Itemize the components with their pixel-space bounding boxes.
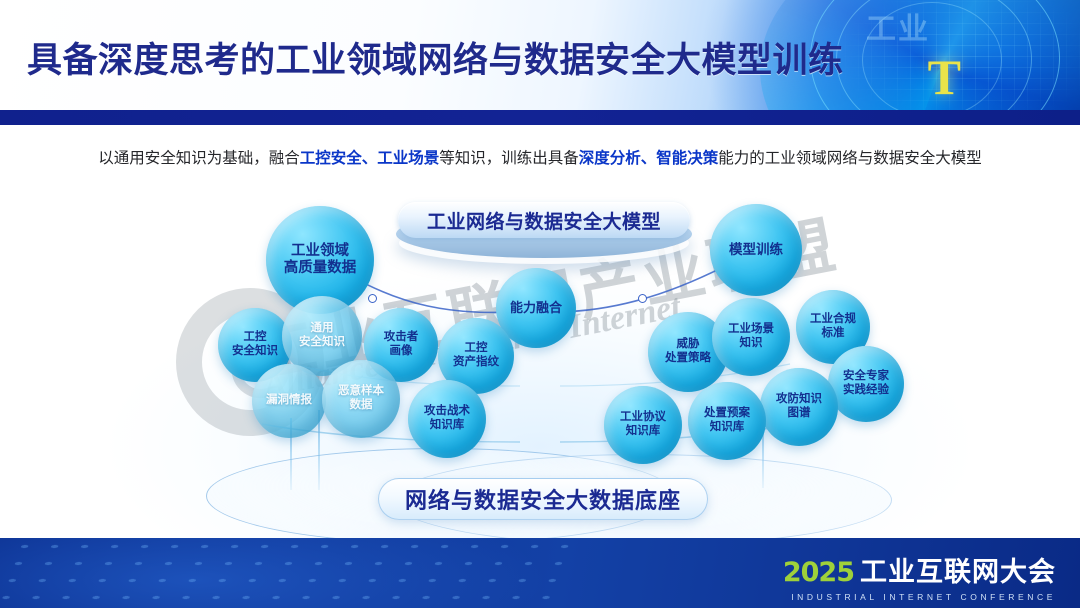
node-malware-sample-data[interactable]: 恶意样本 数据 [322, 360, 400, 438]
node-industrial-scenario-knowledge[interactable]: 工业场景 知识 [712, 298, 790, 376]
node-label-line1: 工业合规 [810, 313, 856, 327]
curve-junction-left [368, 294, 377, 303]
subtitle-part-3: 能力的工业领域网络与数据安全大模型 [718, 150, 982, 167]
node-security-expert-experience[interactable]: 安全专家 实践经验 [828, 346, 904, 422]
subtitle-part-1: 以通用安全知识为基础，融合 [98, 150, 300, 167]
page-title: 具备深度思考的工业领域网络与数据安全大模型训练 [27, 32, 844, 83]
header-ghost-text: 工业 [866, 4, 930, 48]
node-label-line1: 工业场景 [728, 323, 774, 337]
node-label-line2: 图谱 [788, 407, 811, 421]
slide-header: 工业 T 具备深度思考的工业领域网络与数据安全大模型训练 [0, 0, 1080, 112]
conference-logo-main: 2025 工业互联网大会 [783, 550, 1056, 589]
node-label-line2: 画像 [390, 345, 413, 359]
node-response-plan-kb[interactable]: 处置预案 知识库 [688, 382, 766, 460]
node-model-training[interactable]: 模型训练 [710, 204, 802, 296]
subtitle-highlight-2: 深度分析、智能决策 [579, 150, 719, 167]
node-label-line1: 工控 [244, 331, 267, 345]
node-attack-tactics-kb[interactable]: 攻击战术 知识库 [408, 380, 486, 458]
node-label-line2: 安全知识 [299, 336, 345, 350]
diagram-stage: 工业互联网产业联盟 Alliance of Industrial Interne… [0, 186, 1080, 538]
node-label-line1: 通用 [311, 322, 334, 336]
node-label-line1: 安全专家 [843, 370, 889, 384]
node-attack-defense-knowledge-graph[interactable]: 攻防知识 图谱 [760, 368, 838, 446]
node-label-line2: 处置策略 [665, 352, 711, 366]
top-pill-label: 工业网络与数据安全大模型 [398, 202, 690, 238]
curve-junction-right [638, 294, 647, 303]
subtitle-highlight-1: 工控安全、工业场景 [300, 150, 440, 167]
slide-footer: 2025 工业互联网大会 INDUSTRIAL INTERNET CONFERE… [0, 538, 1080, 608]
node-label-line1: 漏洞情报 [266, 394, 312, 408]
node-label-line1: 模型训练 [729, 242, 783, 258]
slide-root: 工业 T 具备深度思考的工业领域网络与数据安全大模型训练 以通用安全知识为基础，… [0, 0, 1080, 608]
node-label-line1: 工业协议 [620, 411, 666, 425]
node-label-line2: 数据 [350, 399, 373, 413]
header-logo-mark: T [928, 52, 958, 102]
node-label-line1: 工业领域 [291, 243, 349, 260]
node-label-line1: 攻防知识 [776, 393, 822, 407]
node-label-line1: 工控 [465, 342, 488, 356]
node-label-line1: 攻击者 [384, 331, 419, 345]
subtitle-text: 以通用安全知识为基础，融合工控安全、工业场景等知识，训练出具备深度分析、智能决策… [0, 148, 1080, 170]
node-label-line2: 知识库 [430, 419, 465, 433]
node-label-line2: 高质量数据 [284, 260, 357, 277]
conference-name-en: INDUSTRIAL INTERNET CONFERENCE [791, 592, 1056, 602]
node-label-line2: 知识库 [710, 421, 745, 435]
conference-name-cn: 工业互联网大会 [860, 550, 1056, 589]
base-pill-label: 网络与数据安全大数据底座 [378, 478, 708, 520]
subtitle-part-2: 等知识，训练出具备 [439, 150, 579, 167]
node-label-line2: 资产指纹 [453, 356, 499, 370]
node-label-line2: 安全知识 [232, 345, 278, 359]
node-label-line1: 攻击战术 [424, 405, 470, 419]
header-divider-band [0, 110, 1080, 125]
node-industrial-protocol-kb[interactable]: 工业协议 知识库 [604, 386, 682, 464]
footer-dot-pattern [0, 538, 573, 608]
conference-year: 2025 [783, 557, 854, 588]
node-label-line2: 知识 [740, 337, 763, 351]
node-label-line1: 处置预案 [704, 407, 750, 421]
node-label-line1: 能力融合 [510, 300, 562, 315]
node-label-line1: 威胁 [677, 338, 700, 352]
node-label-line1: 恶意样本 [338, 385, 384, 399]
node-label-line2: 知识库 [626, 425, 661, 439]
node-label-line2: 标准 [822, 327, 845, 341]
node-vulnerability-intel[interactable]: 漏洞情报 [252, 364, 326, 438]
node-label-line2: 实践经验 [843, 384, 889, 398]
conference-logo: 2025 工业互联网大会 INDUSTRIAL INTERNET CONFERE… [783, 550, 1056, 602]
